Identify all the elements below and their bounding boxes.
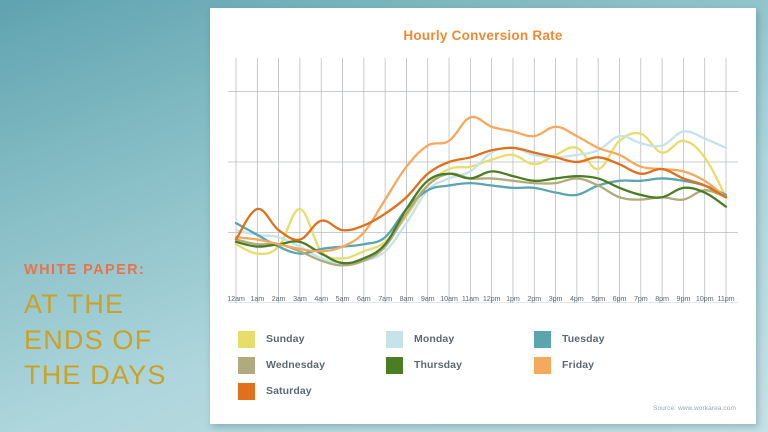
x-axis-tick-5pm: 5pm (591, 294, 605, 303)
plot-area (228, 58, 738, 303)
x-axis-tick-8am: 8am (400, 294, 414, 303)
x-axis-tick-3am: 3am (293, 294, 307, 303)
chart-title: Hourly Conversion Rate (210, 8, 756, 43)
x-axis-tick-2am: 2am (272, 294, 286, 303)
x-axis-tick-11am: 11am (462, 294, 479, 303)
legend-swatch-sunday (238, 331, 255, 348)
x-axis-tick-6am: 6am (357, 294, 371, 303)
x-axis-tick-11pm: 11pm (717, 294, 734, 303)
series-line-sunday (236, 133, 726, 258)
legend-label-tuesday: Tuesday (562, 333, 605, 345)
x-axis-tick-7pm: 7pm (634, 294, 648, 303)
series-lines (236, 117, 726, 265)
x-axis-tick-12am: 12am (227, 294, 245, 303)
legend-label-friday: Friday (562, 359, 594, 371)
x-axis-tick-8pm: 8pm (655, 294, 669, 303)
legend-item-friday[interactable]: Friday (534, 352, 682, 378)
legend-label-sunday: Sunday (266, 333, 305, 345)
x-axis-tick-10pm: 10pm (696, 294, 714, 303)
x-axis-tick-5am: 5am (336, 294, 350, 303)
cover-title: AT THE ENDS OF THE DAYS (24, 287, 214, 394)
legend-item-monday[interactable]: Monday (386, 326, 534, 352)
legend-label-thursday: Thursday (414, 359, 462, 371)
legend-item-wednesday[interactable]: Wednesday (238, 352, 386, 378)
x-axis-tick-1am: 1am (250, 294, 264, 303)
legend-label-wednesday: Wednesday (266, 359, 325, 371)
x-axis-tick-3pm: 3pm (549, 294, 563, 303)
x-axis-labels: 12am1am2am3am4am5am6am7am8am9am10am11am1… (228, 294, 738, 310)
chart-panel: Hourly Conversion Rate 12am1am2am3am4am5… (210, 8, 756, 424)
series-line-tuesday (236, 178, 726, 253)
cover-title-line-2: ENDS OF (24, 323, 214, 359)
chart-legend: SundayMondayTuesdayWednesdayThursdayFrid… (238, 326, 718, 404)
legend-swatch-monday (386, 331, 403, 348)
legend-label-saturday: Saturday (266, 385, 312, 397)
cover-title-line-1: AT THE (24, 287, 214, 323)
legend-swatch-saturday (238, 383, 255, 400)
line-chart-svg (228, 58, 738, 303)
legend-item-tuesday[interactable]: Tuesday (534, 326, 682, 352)
x-axis-tick-1pm: 1pm (506, 294, 520, 303)
legend-swatch-friday (534, 357, 551, 374)
legend-item-thursday[interactable]: Thursday (386, 352, 534, 378)
x-axis-tick-10am: 10am (440, 294, 458, 303)
legend-item-sunday[interactable]: Sunday (238, 326, 386, 352)
cover-title-line-3: THE DAYS (24, 358, 214, 394)
cover-text-block: WHITE PAPER: AT THE ENDS OF THE DAYS (24, 262, 214, 394)
x-axis-tick-9am: 9am (421, 294, 435, 303)
legend-label-monday: Monday (414, 333, 454, 345)
x-axis-tick-6pm: 6pm (613, 294, 627, 303)
legend-item-saturday[interactable]: Saturday (238, 378, 386, 404)
x-axis-tick-12pm: 12pm (483, 294, 501, 303)
cover-eyebrow: WHITE PAPER: (24, 262, 214, 278)
source-note: Source: www.workarea.com (653, 405, 736, 412)
legend-swatch-wednesday (238, 357, 255, 374)
legend-swatch-tuesday (534, 331, 551, 348)
x-axis-tick-7am: 7am (378, 294, 392, 303)
x-axis-tick-4pm: 4pm (570, 294, 584, 303)
x-axis-tick-2pm: 2pm (527, 294, 541, 303)
grid-lines (228, 58, 738, 303)
legend-swatch-thursday (386, 357, 403, 374)
x-axis-tick-9pm: 9pm (677, 294, 691, 303)
x-axis-tick-4am: 4am (314, 294, 328, 303)
